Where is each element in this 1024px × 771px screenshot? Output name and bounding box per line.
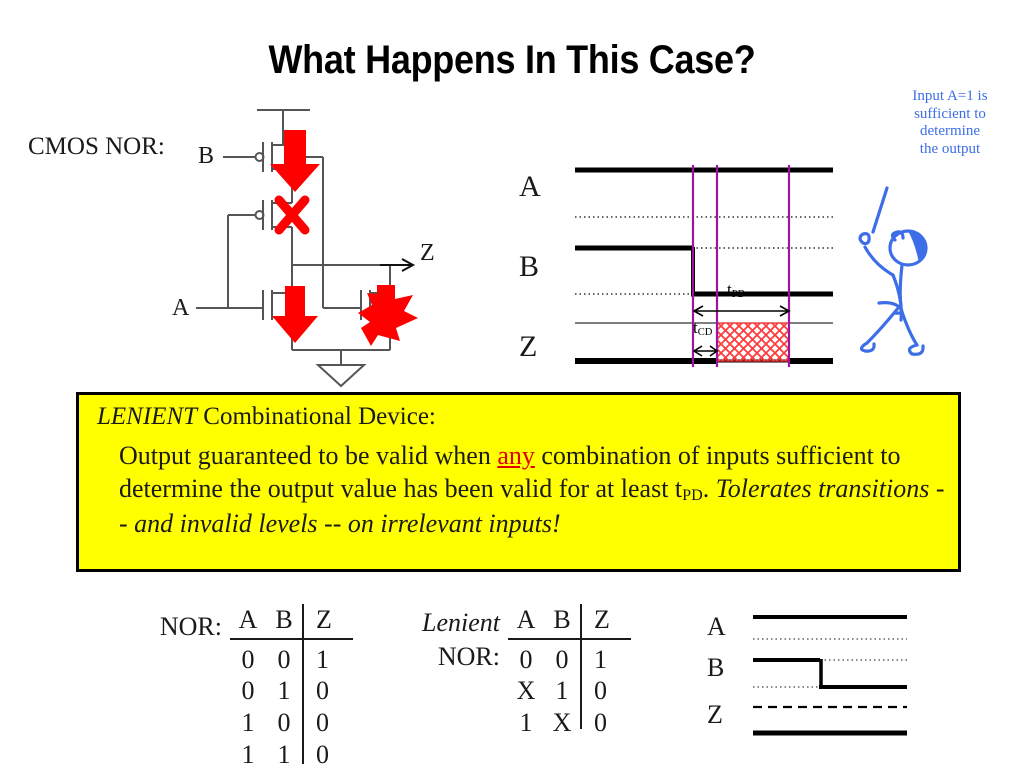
- table-divider-horizontal: [230, 638, 353, 640]
- col-header-b: B: [266, 604, 302, 636]
- timing-label-z: Z: [519, 330, 537, 364]
- table-header-row: A B Z: [508, 604, 634, 636]
- table-divider-horizontal: [508, 638, 631, 640]
- note-line-1: Input A=1 is: [882, 88, 1018, 106]
- callout-header-emphasis: LENIENT: [97, 403, 197, 430]
- circuit-label: CMOS NOR:: [28, 133, 165, 161]
- callout-header-rest: Combinational Device: [197, 403, 429, 430]
- stick-figure: [855, 185, 975, 365]
- timing-svg: [505, 155, 845, 375]
- cell-b: 0: [266, 644, 302, 676]
- truth-table-lenient-nor: Lenient NOR: A B Z 0 0 1 X 1 0 1 X 0: [390, 600, 620, 750]
- cell-b: 1: [266, 739, 302, 771]
- callout-emphasis-any: any: [497, 441, 535, 470]
- callout-body-part3: .: [703, 474, 716, 503]
- callout-header: LENIENT Combinational Device:: [97, 403, 436, 431]
- tpd-arrow: [694, 306, 789, 316]
- cell-z: 0: [302, 707, 356, 739]
- mini-label-b: B: [707, 653, 724, 683]
- circuit-input-b-label: B: [198, 143, 214, 170]
- truth-table-lenient-name-line1: Lenient: [390, 608, 500, 638]
- col-header-a: A: [508, 604, 544, 636]
- callout-body: Output guaranteed to be valid when any c…: [119, 439, 949, 540]
- col-header-z: Z: [580, 604, 634, 636]
- cell-b: 1: [544, 675, 580, 707]
- cell-a: 0: [508, 644, 544, 676]
- invalid-region-hatch: [717, 323, 789, 361]
- tcd-label: tCD: [693, 318, 712, 338]
- cell-a: 0: [230, 675, 266, 707]
- table-row: 0 0 1: [230, 644, 356, 676]
- col-header-a: A: [230, 604, 266, 636]
- timing-diagram-main: A B Z: [505, 155, 845, 375]
- ground-symbol: [318, 365, 364, 386]
- red-x-pmos-a: [279, 200, 305, 230]
- cell-z: 0: [580, 675, 634, 707]
- red-down-arrow-nmos-a: [272, 286, 318, 343]
- truth-table-lenient-name-line2: NOR:: [390, 642, 500, 672]
- circuit-input-a-label: A: [172, 295, 189, 322]
- cell-z: 1: [580, 644, 634, 676]
- note-line-2: sufficient to: [882, 106, 1018, 124]
- table-row: 0 0 1: [508, 644, 634, 676]
- cell-b: 1: [266, 675, 302, 707]
- truth-table-nor: NOR: A B Z 0 0 1 0 1 0 1 0 0: [150, 600, 360, 770]
- slide-root: What Happens In This Case? CMOS NOR:: [0, 0, 1024, 768]
- tcd-arrow: [694, 346, 717, 356]
- callout-body-subscript: PD: [682, 487, 703, 504]
- tpd-label: tPD: [727, 280, 745, 300]
- note-line-4: the output: [882, 141, 1018, 159]
- callout-body-part1: Output guaranteed to be valid when: [119, 441, 497, 470]
- cell-a: 1: [230, 707, 266, 739]
- mini-label-z: Z: [707, 700, 723, 730]
- annotation-note: Input A=1 is sufficient to determine the…: [882, 88, 1018, 159]
- col-header-b: B: [544, 604, 580, 636]
- table-row: 1 X 0: [508, 707, 634, 739]
- cell-b: X: [544, 707, 580, 739]
- cell-b: 0: [544, 644, 580, 676]
- red-down-arrow-pmos-b: [270, 130, 320, 192]
- table-row: 1 1 0: [230, 739, 356, 771]
- table-divider-vertical: [302, 604, 304, 764]
- timing-diagram-mini: A B Z: [705, 605, 935, 745]
- red-arrow-nmos-b: [358, 285, 418, 346]
- col-header-z: Z: [302, 604, 356, 636]
- mini-timing-svg: [705, 605, 935, 745]
- cell-a: 1: [508, 707, 544, 739]
- page-title: What Happens In This Case?: [51, 38, 973, 83]
- cell-z: 0: [580, 707, 634, 739]
- stick-figure-hair: [908, 231, 926, 263]
- timing-label-b: B: [519, 250, 539, 284]
- timing-label-a: A: [519, 170, 541, 204]
- truth-table-nor-name: NOR:: [150, 612, 222, 642]
- cell-a: 1: [230, 739, 266, 771]
- table-divider-vertical: [580, 604, 582, 729]
- cell-z: 0: [302, 675, 356, 707]
- cell-b: 0: [266, 707, 302, 739]
- cmos-nor-circuit: CMOS NOR:: [20, 100, 450, 390]
- table-header-row: A B Z: [230, 604, 356, 636]
- cell-a: X: [508, 675, 544, 707]
- truth-table-lenient-grid: A B Z 0 0 1 X 1 0 1 X 0: [508, 604, 634, 739]
- cell-z: 1: [302, 644, 356, 676]
- mini-label-a: A: [707, 612, 726, 642]
- table-row: 1 0 0: [230, 707, 356, 739]
- lenient-definition-callout: LENIENT Combinational Device: Output gua…: [76, 392, 961, 572]
- table-row: 0 1 0: [230, 675, 356, 707]
- table-row: X 1 0: [508, 675, 634, 707]
- truth-table-nor-grid: A B Z 0 0 1 0 1 0 1 0 0 1 1 0: [230, 604, 356, 771]
- callout-header-colon: :: [429, 403, 436, 430]
- note-line-3: determine: [882, 123, 1018, 141]
- cell-a: 0: [230, 644, 266, 676]
- circuit-output-z-label: Z: [420, 240, 435, 267]
- cell-z: 0: [302, 739, 356, 771]
